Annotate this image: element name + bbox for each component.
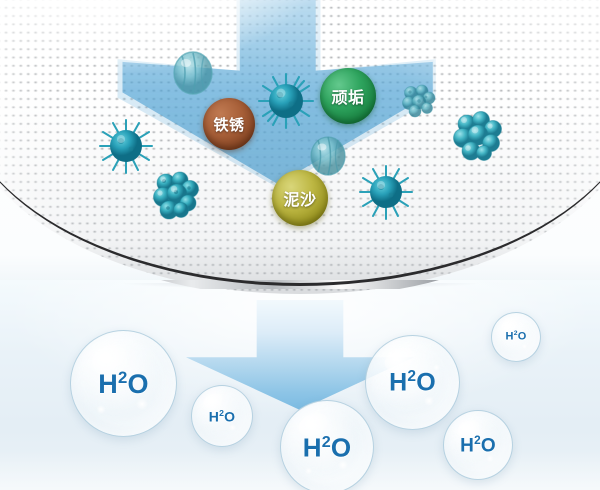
germ-pollen-mid-icon xyxy=(307,135,349,177)
illustration-canvas: 铁锈 顽垢 泥沙 H2O H2O H2O H2O H2O H2O xyxy=(0,0,600,490)
bubble-tiny-topright: H2O xyxy=(491,312,541,362)
germ-cluster-small-icon xyxy=(400,83,438,119)
bubble-right-mid: H2O xyxy=(443,410,513,480)
bubble-label: H2O xyxy=(303,434,352,461)
tag-silt-label: 泥沙 xyxy=(283,186,316,210)
germ-spiky-center-icon xyxy=(255,70,317,132)
bubble-small-mid: H2O xyxy=(191,385,253,447)
germ-spiky-right-icon xyxy=(357,163,415,221)
bubble-label: H2O xyxy=(209,409,235,424)
germ-cluster-left-icon xyxy=(150,168,206,224)
tag-rust-label: 铁锈 xyxy=(213,114,244,135)
bubble-label: H2O xyxy=(506,331,527,343)
bubble-left-large: H2O xyxy=(70,330,177,437)
bubble-label: H2O xyxy=(389,369,436,395)
bubble-label: H2O xyxy=(98,370,148,398)
bubble-sparkle xyxy=(433,364,440,371)
germ-pollen-top-icon xyxy=(170,50,216,96)
tag-grime[interactable]: 顽垢 xyxy=(320,68,376,124)
bubble-sparkle xyxy=(305,467,312,474)
tag-grime-label: 顽垢 xyxy=(331,84,364,108)
bubble-right-large: H2O xyxy=(365,335,460,430)
tag-rust[interactable]: 铁锈 xyxy=(203,98,255,150)
filter-rim-outline xyxy=(0,0,600,286)
tag-silt[interactable]: 泥沙 xyxy=(272,170,328,226)
bubble-sparkle xyxy=(96,405,105,414)
bubble-center-large: H2O xyxy=(280,400,374,490)
germ-cluster-right-icon xyxy=(451,110,507,164)
germ-spiky-left-icon xyxy=(96,116,156,176)
